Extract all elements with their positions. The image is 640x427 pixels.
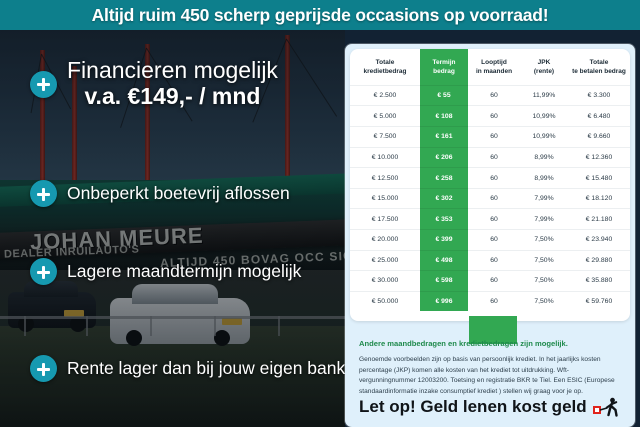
table-cell: € 9.660	[568, 127, 630, 148]
table-cell: 7,50%	[520, 271, 568, 292]
table-cell: 60	[468, 209, 520, 230]
table-cell: € 59.760	[568, 291, 630, 311]
table-cell: € 15.480	[568, 168, 630, 189]
table-cell: 8,99%	[520, 147, 568, 168]
table-cell: 60	[468, 291, 520, 311]
table-cell: € 7.500	[350, 127, 420, 148]
table-cell: € 35.880	[568, 271, 630, 292]
table-cell: € 108	[420, 106, 468, 127]
table-body: € 2.500€ 556011,99%€ 3.300€ 5.000€ 10860…	[350, 85, 630, 311]
headline-line-2: v.a. €149,- / mnd	[67, 82, 278, 111]
walking-person-pulling-block-icon	[593, 397, 619, 417]
table-header-cell: Termijnbedrag	[420, 49, 468, 85]
table-cell: € 258	[420, 168, 468, 189]
table-cell: € 30.000	[350, 271, 420, 292]
table-cell: 60	[468, 188, 520, 209]
credit-warning-text: Let op! Geld lenen kost geld	[359, 397, 587, 417]
table-cell: € 161	[420, 127, 468, 148]
table-cell: € 302	[420, 188, 468, 209]
credit-warning: Let op! Geld lenen kost geld	[359, 397, 619, 417]
table-cell: € 23.940	[568, 230, 630, 251]
table-row: € 30.000€ 598607,50%€ 35.880	[350, 271, 630, 292]
top-headline-bar: Altijd ruim 450 scherp geprijsde occasio…	[0, 0, 640, 30]
table-header-cell: JPK(rente)	[520, 49, 568, 85]
table-row: € 20.000€ 399607,50%€ 23.940	[350, 230, 630, 251]
table-row: € 12.500€ 258608,99%€ 15.480	[350, 168, 630, 189]
feature-bullet-3: Rente lager dan bij jouw eigen bank	[30, 355, 345, 382]
table-cell: 10,99%	[520, 127, 568, 148]
plus-icon	[30, 71, 57, 98]
table-cell: 60	[468, 168, 520, 189]
table-cell: 7,99%	[520, 209, 568, 230]
table-cell: € 206	[420, 147, 468, 168]
table-cell: 11,99%	[520, 85, 568, 106]
feature-bullet-2-label: Lagere maandtermijn mogelijk	[67, 261, 301, 282]
table-cell: 10,99%	[520, 106, 568, 127]
table-cell: € 12.360	[568, 147, 630, 168]
table-cell: € 50.000	[350, 291, 420, 311]
table-cell: € 55	[420, 85, 468, 106]
table-header-row: TotalekredietbedragTermijnbedragLooptijd…	[350, 49, 630, 85]
feature-bullet-list: Financieren mogelijk v.a. €149,- / mnd O…	[0, 30, 345, 427]
table-cell: € 18.120	[568, 188, 630, 209]
table-row: € 2.500€ 556011,99%€ 3.300	[350, 85, 630, 106]
feature-bullet-1: Onbeperkt boetevrij aflossen	[30, 180, 290, 207]
table-cell: € 399	[420, 230, 468, 251]
feature-bullet-1-label: Onbeperkt boetevrij aflossen	[67, 183, 290, 204]
table-cell: € 598	[420, 271, 468, 292]
table-cell: € 20.000	[350, 230, 420, 251]
table-cell: € 29.880	[568, 250, 630, 271]
table-cell: € 5.000	[350, 106, 420, 127]
table-cell: 60	[468, 127, 520, 148]
plus-icon	[30, 180, 57, 207]
table-cell: 60	[468, 230, 520, 251]
finance-table-card: TotalekredietbedragTermijnbedragLooptijd…	[350, 49, 630, 321]
table-cell: 60	[468, 85, 520, 106]
table-cell: 60	[468, 271, 520, 292]
table-cell: € 25.000	[350, 250, 420, 271]
feature-headline-block: Financieren mogelijk v.a. €149,- / mnd	[30, 58, 278, 111]
plus-icon	[30, 258, 57, 285]
table-cell: 60	[468, 250, 520, 271]
finance-info-panel: TotalekredietbedragTermijnbedragLooptijd…	[345, 44, 635, 427]
table-row: € 15.000€ 302607,99%€ 18.120	[350, 188, 630, 209]
table-cell: 7,50%	[520, 291, 568, 311]
table-row: € 17.500€ 353607,99%€ 21.180	[350, 209, 630, 230]
advertisement-banner: Altijd ruim 450 scherp geprijsde occasio…	[0, 0, 640, 427]
feature-bullet-3-label: Rente lager dan bij jouw eigen bank	[67, 358, 345, 379]
table-cell: € 12.500	[350, 168, 420, 189]
finance-disclaimer: Andere maandbedragen en kredietbedragen …	[359, 339, 621, 398]
table-cell: € 996	[420, 291, 468, 311]
table-cell: 7,50%	[520, 250, 568, 271]
disclaimer-title: Andere maandbedragen en kredietbedragen …	[359, 339, 621, 349]
table-cell: 7,50%	[520, 230, 568, 251]
table-cell: € 6.480	[568, 106, 630, 127]
table-cell: 60	[468, 106, 520, 127]
table-header-cell: Totalekredietbedrag	[350, 49, 420, 85]
table-cell: 60	[468, 147, 520, 168]
table-cell: € 353	[420, 209, 468, 230]
finance-table: TotalekredietbedragTermijnbedragLooptijd…	[350, 49, 630, 311]
headline-stack: Financieren mogelijk v.a. €149,- / mnd	[67, 58, 278, 111]
table-row: € 7.500€ 1616010,99%€ 9.660	[350, 127, 630, 148]
disclaimer-body: Genoemde voorbeelden zijn op basis van p…	[359, 355, 621, 398]
table-header-cell: Totalete betalen bedrag	[568, 49, 630, 85]
table-row: € 50.000€ 996607,50%€ 59.760	[350, 291, 630, 311]
feature-bullet-2: Lagere maandtermijn mogelijk	[30, 258, 301, 285]
top-headline-text: Altijd ruim 450 scherp geprijsde occasio…	[92, 5, 549, 26]
table-cell: € 3.300	[568, 85, 630, 106]
table-row: € 10.000€ 206608,99%€ 12.360	[350, 147, 630, 168]
table-header-cell: Looptijdin maanden	[468, 49, 520, 85]
table-cell: 7,99%	[520, 188, 568, 209]
plus-icon	[30, 355, 57, 382]
table-cell: € 21.180	[568, 209, 630, 230]
table-cell: 8,99%	[520, 168, 568, 189]
table-cell: € 15.000	[350, 188, 420, 209]
table-cell: € 10.000	[350, 147, 420, 168]
table-row: € 25.000€ 498607,50%€ 29.880	[350, 250, 630, 271]
table-cell: € 2.500	[350, 85, 420, 106]
table-row: € 5.000€ 1086010,99%€ 6.480	[350, 106, 630, 127]
table-cell: € 498	[420, 250, 468, 271]
table-cell: € 17.500	[350, 209, 420, 230]
headline-line-1: Financieren mogelijk	[67, 58, 278, 82]
